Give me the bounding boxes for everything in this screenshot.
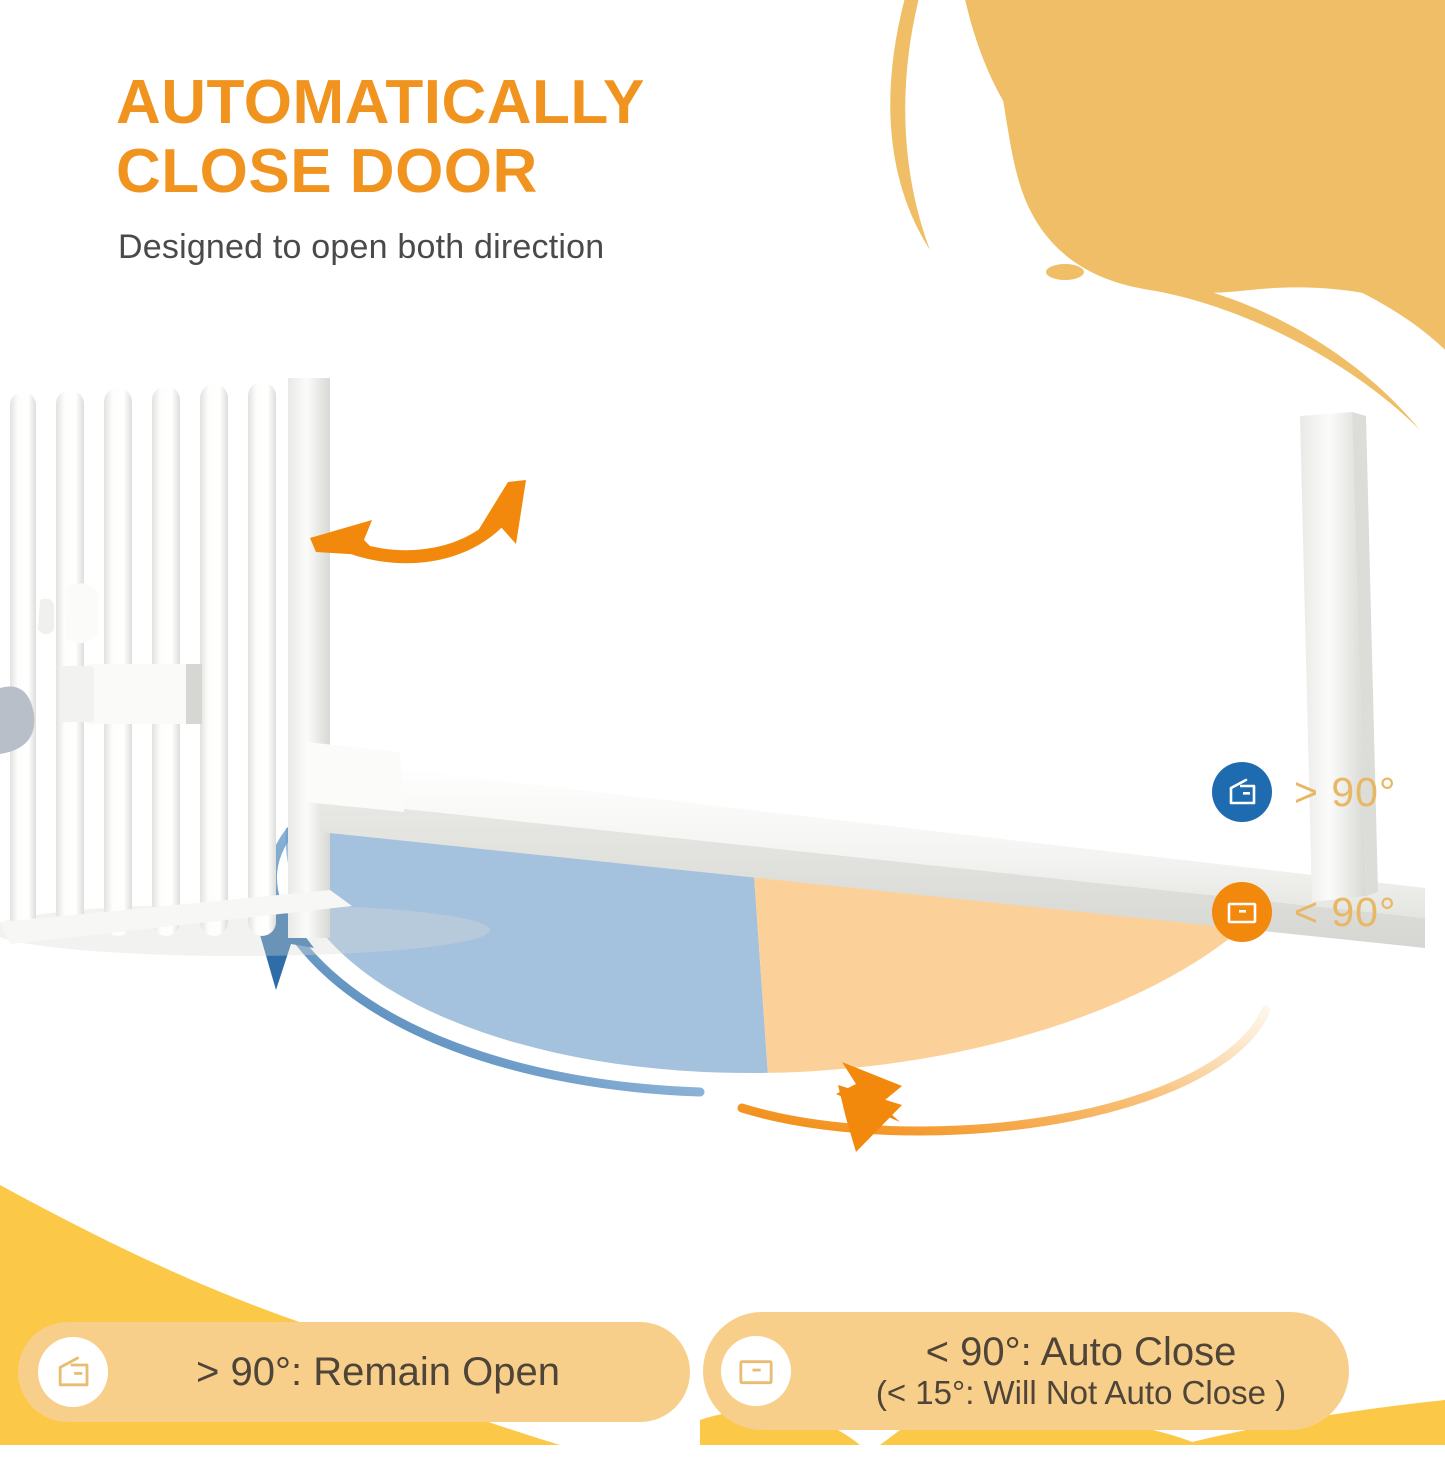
marker-greater-90: > 90°	[1212, 762, 1396, 822]
marker-label-greater-90: > 90°	[1294, 769, 1396, 816]
legend-badge-auto-close[interactable]: < 90°: Auto Close (< 15°: Will Not Auto …	[703, 1312, 1349, 1430]
door-ajar-icon	[1212, 762, 1272, 822]
legend-text-remain-open: > 90°: Remain Open	[196, 1350, 560, 1394]
gate-bidirectional-arrow	[0, 0, 1445, 1445]
legend-text-auto-close-line1: < 90°: Auto Close	[926, 1330, 1237, 1374]
marker-less-90: < 90°	[1212, 882, 1396, 942]
door-closed-icon	[1212, 882, 1272, 942]
door-closed-icon	[721, 1336, 791, 1406]
legend-badge-remain-open[interactable]: > 90°: Remain Open	[18, 1322, 690, 1422]
arrow-head-left	[310, 520, 380, 556]
door-ajar-icon	[38, 1337, 108, 1407]
marker-label-less-90: < 90°	[1294, 889, 1396, 936]
page-title: AUTOMATICALLY CLOSE DOOR	[116, 68, 876, 207]
legend-text-auto-close: < 90°: Auto Close (< 15°: Will Not Auto …	[813, 1285, 1349, 1456]
page-subtitle: Designed to open both direction	[118, 228, 918, 267]
legend-text-auto-close-line2: (< 15°: Will Not Auto Close )	[813, 1375, 1349, 1412]
infographic-canvas: AUTOMATICALLY CLOSE DOOR Designed to ope…	[0, 0, 1445, 1445]
